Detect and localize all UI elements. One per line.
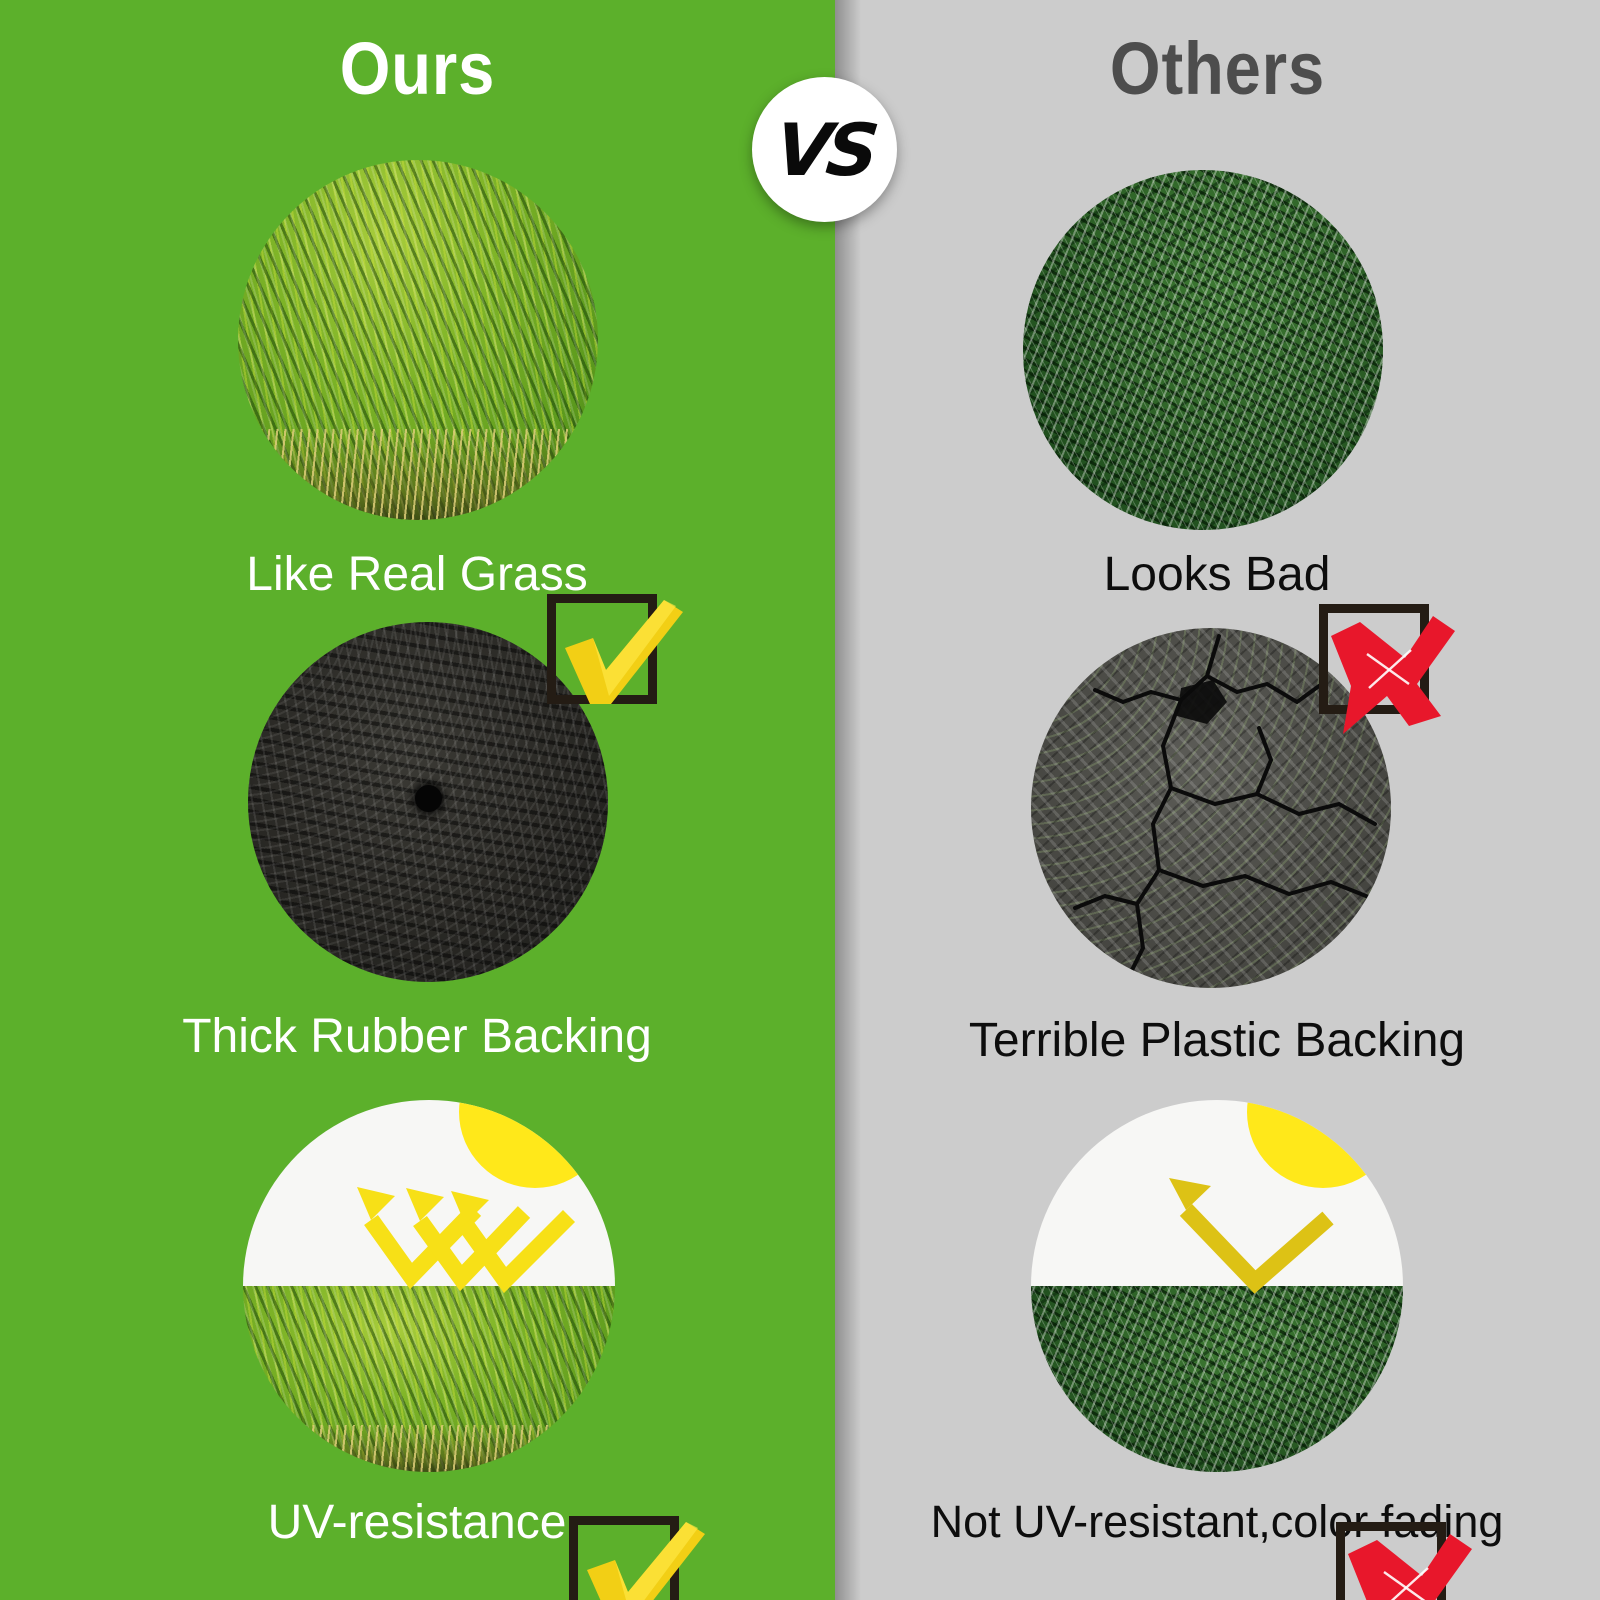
uv-reflection-arrows-icon — [243, 1100, 615, 1472]
verdict-badge-cross-appearance — [1305, 588, 1455, 738]
cell-ours-appearance: Like Real Grass — [0, 160, 835, 620]
image-ours-uv — [243, 1100, 615, 1472]
uv-illustration-others — [1031, 1100, 1403, 1472]
caption-others-appearance: Looks Bad — [807, 550, 1600, 600]
image-others-uv — [1031, 1100, 1403, 1472]
grass-texture-others — [1023, 170, 1383, 530]
cell-others-appearance: Looks Bad — [835, 170, 1600, 630]
matted-grass-texture-icon — [1023, 170, 1383, 530]
image-ours-appearance — [238, 160, 598, 520]
verdict-badge-check-backing — [555, 1500, 705, 1600]
cell-others-backing: Terrible Plastic Backing — [835, 628, 1600, 1088]
column-title-ours: Ours — [50, 26, 785, 111]
caption-ours-backing: Thick Rubber Backing — [7, 1012, 827, 1062]
cell-others-uv: Not UV-resistant,color fading — [835, 1100, 1600, 1580]
panel-others: Others Looks Bad — [835, 0, 1600, 1600]
cell-ours-uv: UV-resistance — [0, 1100, 835, 1580]
cell-ours-backing: Thick Rubber Backing — [0, 622, 835, 1082]
vs-label: VS — [772, 114, 877, 186]
vs-badge: VS — [752, 77, 897, 222]
cross-mark-icon — [1322, 1506, 1472, 1600]
drainage-hole-icon — [415, 785, 442, 812]
image-others-appearance — [1023, 170, 1383, 530]
panel-ours: Ours Like Real Grass — [0, 0, 835, 1600]
verdict-badge-cross-backing — [1322, 1506, 1472, 1600]
verdict-badge-check-appearance — [533, 578, 683, 728]
caption-others-backing: Terrible Plastic Backing — [807, 1016, 1600, 1066]
check-mark-icon — [555, 1500, 705, 1600]
caption-others-uv: Not UV-resistant,color fading — [807, 1498, 1600, 1545]
lush-grass-texture-icon — [238, 160, 598, 520]
check-mark-icon — [533, 578, 683, 728]
cross-mark-icon — [1305, 588, 1455, 738]
column-title-others: Others — [881, 26, 1554, 111]
uv-illustration-ours — [243, 1100, 615, 1472]
grass-texture-ours — [238, 160, 598, 520]
caption-ours-appearance: Like Real Grass — [7, 550, 827, 600]
comparison-board: Ours Like Real Grass — [0, 0, 1600, 1600]
uv-reflection-arrow-icon — [1031, 1100, 1403, 1472]
